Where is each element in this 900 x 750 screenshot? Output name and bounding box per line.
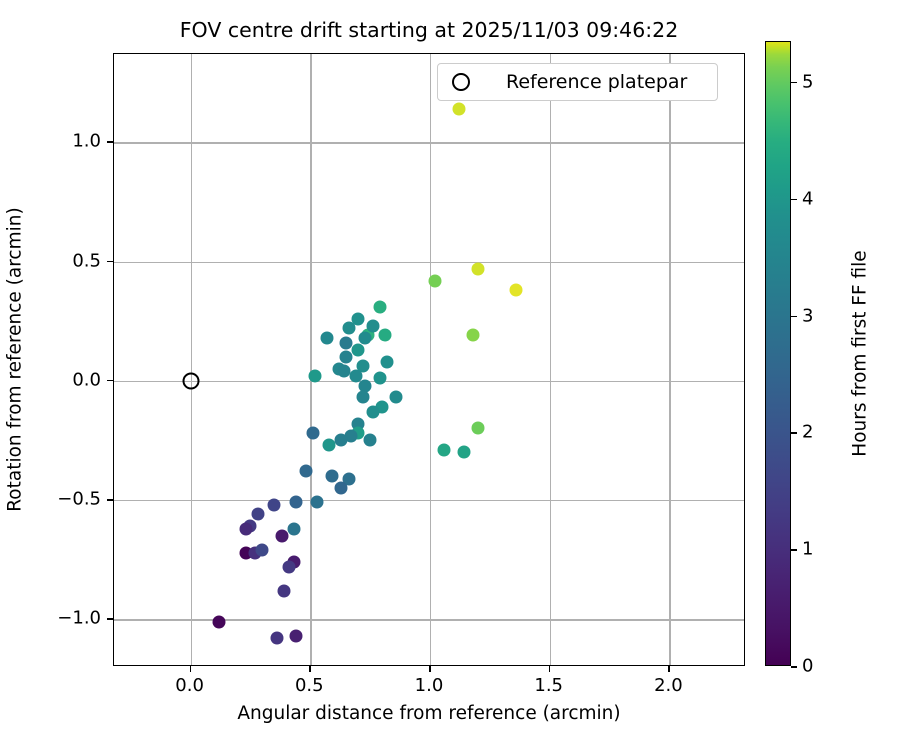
- x-axis-label: Angular distance from reference (arcmin): [113, 703, 745, 724]
- gridline-horizontal: [114, 142, 744, 143]
- scatter-point: [390, 391, 403, 404]
- y-axis-tick: [107, 618, 113, 620]
- gridline-horizontal: [114, 262, 744, 263]
- scatter-point: [380, 355, 393, 368]
- x-axis-tick: [190, 666, 192, 672]
- x-axis-tick: [668, 666, 670, 672]
- scatter-point: [270, 632, 283, 645]
- colorbar-tick: [791, 199, 797, 201]
- legend: Reference platepar: [437, 63, 718, 101]
- scatter-point: [306, 427, 319, 440]
- y-axis-label: Rotation from reference (arcmin): [0, 53, 30, 666]
- scatter-point: [340, 336, 353, 349]
- scatter-point: [335, 434, 348, 447]
- scatter-point: [311, 496, 324, 509]
- gridline-vertical: [191, 54, 192, 665]
- scatter-point: [299, 465, 312, 478]
- scatter-point: [275, 529, 288, 542]
- scatter-point: [366, 405, 379, 418]
- scatter-point: [256, 544, 269, 557]
- scatter-point: [428, 274, 441, 287]
- x-axis-tick: [429, 666, 431, 672]
- legend-item-label: Reference platepar: [506, 71, 687, 93]
- y-axis-tick: [107, 499, 113, 501]
- y-axis-tick-label: −1.0: [57, 608, 101, 629]
- scatter-point: [467, 329, 480, 342]
- scatter-point: [471, 262, 484, 275]
- scatter-point: [438, 443, 451, 456]
- scatter-point: [356, 391, 369, 404]
- scatter-point: [287, 522, 300, 535]
- scatter-point: [251, 508, 264, 521]
- y-axis-tick-label: 1.0: [72, 131, 101, 152]
- gridline-vertical: [669, 54, 670, 665]
- scatter-point: [268, 498, 281, 511]
- scatter-point: [323, 439, 336, 452]
- scatter-point: [342, 322, 355, 335]
- x-axis-tick: [309, 666, 311, 672]
- colorbar-gradient: [765, 41, 791, 666]
- y-axis-tick: [107, 261, 113, 263]
- scatter-point: [378, 329, 391, 342]
- colorbar-tick: [791, 82, 797, 84]
- gridline-horizontal: [114, 381, 744, 382]
- colorbar-label: Hours from first FF file: [845, 41, 875, 666]
- page-title: FOV centre drift starting at 2025/11/03 …: [113, 18, 745, 42]
- scatter-point: [239, 522, 252, 535]
- reference-platepar-point: [182, 372, 199, 389]
- scatter-point: [457, 446, 470, 459]
- x-axis-tick-label: 0.5: [295, 675, 324, 696]
- colorbar-tick-label: 3: [802, 305, 813, 326]
- reference-platepar-marker-icon: [452, 73, 470, 91]
- gridline-vertical: [550, 54, 551, 665]
- scatter-point: [340, 350, 353, 363]
- colorbar-tick-label: 1: [802, 539, 813, 560]
- colorbar-tick: [791, 549, 797, 551]
- scatter-point: [373, 372, 386, 385]
- scatter-point: [366, 319, 379, 332]
- y-axis-tick-label: −0.5: [57, 489, 101, 510]
- scatter-point: [352, 343, 365, 356]
- x-axis-tick-label: 2.0: [654, 675, 683, 696]
- scatter-point: [277, 584, 290, 597]
- gridline-horizontal: [114, 500, 744, 501]
- scatter-point: [321, 331, 334, 344]
- scatter-point: [289, 496, 302, 509]
- colorbar-tick: [791, 432, 797, 434]
- colorbar-tick: [791, 316, 797, 318]
- scatter-point: [309, 370, 322, 383]
- gridline-vertical: [430, 54, 431, 665]
- scatter-point: [364, 434, 377, 447]
- colorbar-label-text: Hours from first FF file: [850, 250, 871, 456]
- scatter-point: [325, 470, 338, 483]
- scatter-point: [213, 615, 226, 628]
- colorbar-tick-label: 0: [802, 656, 813, 677]
- figure-canvas: FOV centre drift starting at 2025/11/03 …: [0, 0, 900, 750]
- y-axis-tick-label: 0.0: [72, 369, 101, 390]
- scatter-point: [373, 300, 386, 313]
- scatter-point: [282, 560, 295, 573]
- colorbar-tick-label: 4: [802, 188, 813, 209]
- scatter-point: [335, 482, 348, 495]
- scatter-point: [289, 629, 302, 642]
- x-axis-tick-label: 0.0: [175, 675, 204, 696]
- gridline-horizontal: [114, 619, 744, 620]
- y-axis-tick: [107, 141, 113, 143]
- x-axis-tick-label: 1.5: [534, 675, 563, 696]
- y-axis-tick: [107, 380, 113, 382]
- gridline-vertical: [310, 54, 311, 665]
- colorbar-tick-label: 2: [802, 422, 813, 443]
- colorbar-tick-label: 5: [802, 71, 813, 92]
- scatter-point: [510, 284, 523, 297]
- y-axis-tick-label: 0.5: [72, 250, 101, 271]
- y-axis-label-text: Rotation from reference (arcmin): [5, 207, 26, 511]
- x-axis-tick: [549, 666, 551, 672]
- scatter-point: [471, 422, 484, 435]
- plot-area: [113, 53, 745, 666]
- colorbar-tick: [791, 666, 797, 668]
- scatter-point: [359, 331, 372, 344]
- scatter-point: [452, 102, 465, 115]
- x-axis-tick-label: 1.0: [415, 675, 444, 696]
